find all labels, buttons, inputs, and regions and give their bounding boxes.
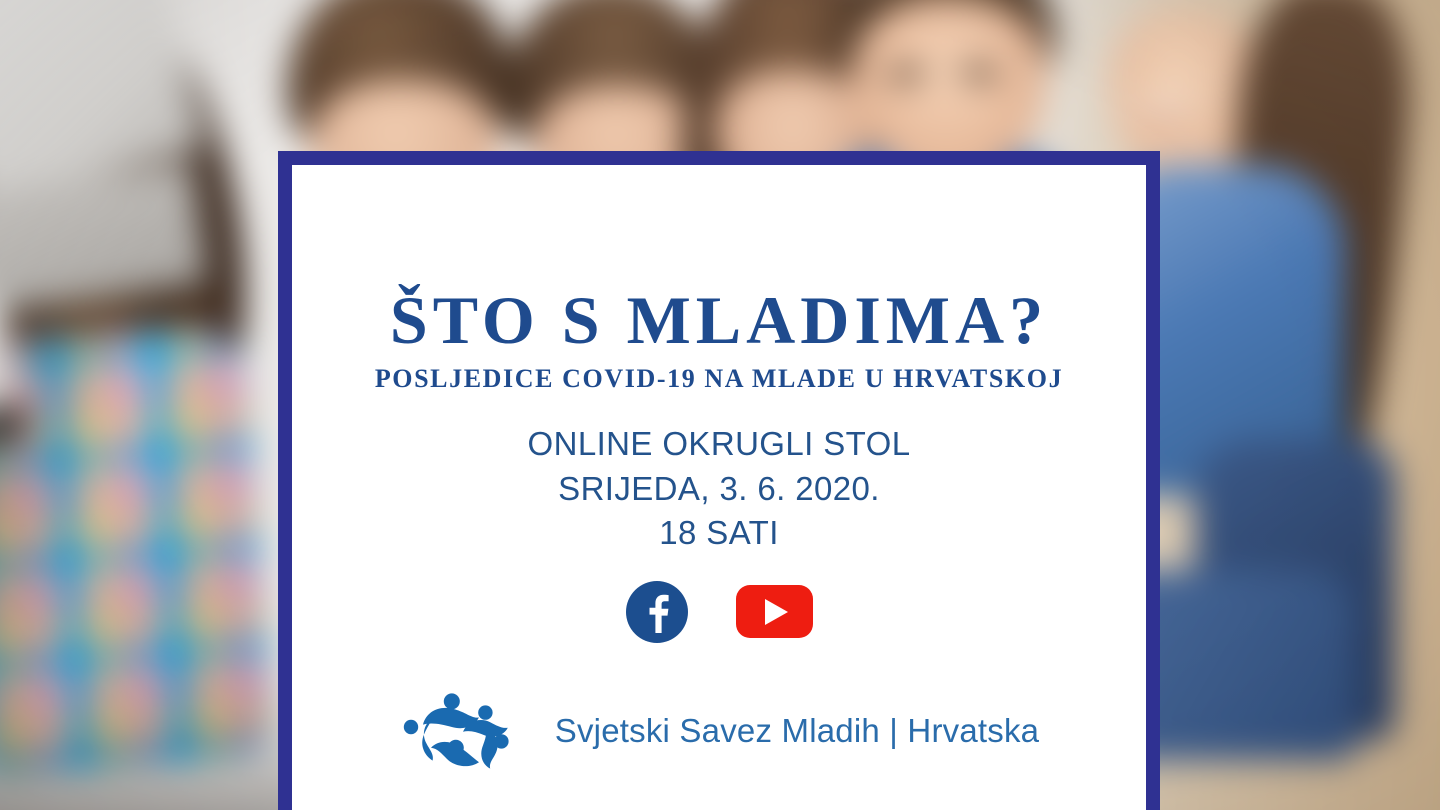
announcement-card-inner: ŠTO S MLADIMA? POSLJEDICE COVID-19 NA ML… — [292, 165, 1146, 810]
organization-name: Svjetski Savez Mladih | Hrvatska — [555, 712, 1039, 750]
person-girl-left-plaid-shadow — [0, 325, 275, 775]
poster-canvas: ŠTO S MLADIMA? POSLJEDICE COVID-19 NA ML… — [0, 0, 1440, 810]
event-details: ONLINE OKRUGLI STOL SRIJEDA, 3. 6. 2020.… — [528, 422, 911, 556]
facebook-link[interactable] — [626, 581, 688, 643]
wya-people-circle-logo-icon — [399, 687, 527, 775]
social-links — [626, 581, 813, 643]
event-time: 18 SATI — [528, 511, 911, 556]
page-subtitle: POSLJEDICE COVID-19 NA MLADE U HRVATSKOJ — [375, 366, 1063, 392]
youtube-icon — [765, 599, 788, 625]
organization-branding: Svjetski Savez Mladih | Hrvatska — [399, 687, 1039, 775]
facebook-icon — [641, 591, 673, 633]
page-title: ŠTO S MLADIMA? — [390, 286, 1048, 354]
youtube-link[interactable] — [736, 585, 813, 638]
person-girl-right-smile — [1135, 100, 1191, 122]
event-type: ONLINE OKRUGLI STOL — [528, 422, 911, 467]
announcement-card: ŠTO S MLADIMA? POSLJEDICE COVID-19 NA ML… — [278, 151, 1160, 810]
event-date: SRIJEDA, 3. 6. 2020. — [528, 467, 911, 512]
